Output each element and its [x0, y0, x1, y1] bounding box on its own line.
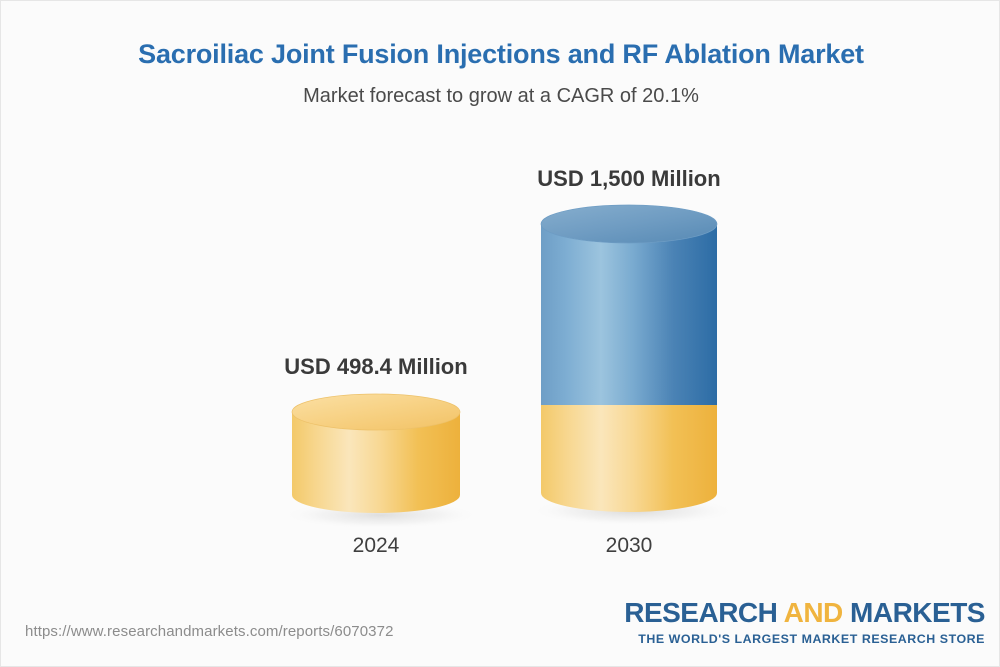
value-label-2030: USD 1,500 Million: [429, 166, 829, 192]
brand-name-part2: MARKETS: [843, 597, 985, 628]
source-url[interactable]: https://www.researchandmarkets.com/repor…: [25, 623, 394, 640]
brand-name: RESEARCH AND MARKETS: [624, 599, 985, 627]
brand-tagline: THE WORLD'S LARGEST MARKET RESEARCH STOR…: [624, 632, 985, 646]
bar-cylinder-2024: [281, 387, 473, 529]
brand-logo: RESEARCH AND MARKETS THE WORLD'S LARGEST…: [624, 599, 985, 646]
brand-name-and: AND: [784, 597, 843, 628]
bar-top-cap-2030: [541, 205, 717, 243]
brand-name-part1: RESEARCH: [624, 597, 783, 628]
infographic-canvas: Sacroiliac Joint Fusion Injections and R…: [0, 0, 1000, 667]
bar-body-yellow-2030: [541, 405, 717, 512]
category-label-2024: 2024: [176, 534, 576, 558]
bar-top-cap-2024: [292, 394, 460, 430]
chart-plot-area: USD 1,500 Million 2030: [1, 1, 1000, 667]
value-label-2024: USD 498.4 Million: [176, 354, 576, 380]
